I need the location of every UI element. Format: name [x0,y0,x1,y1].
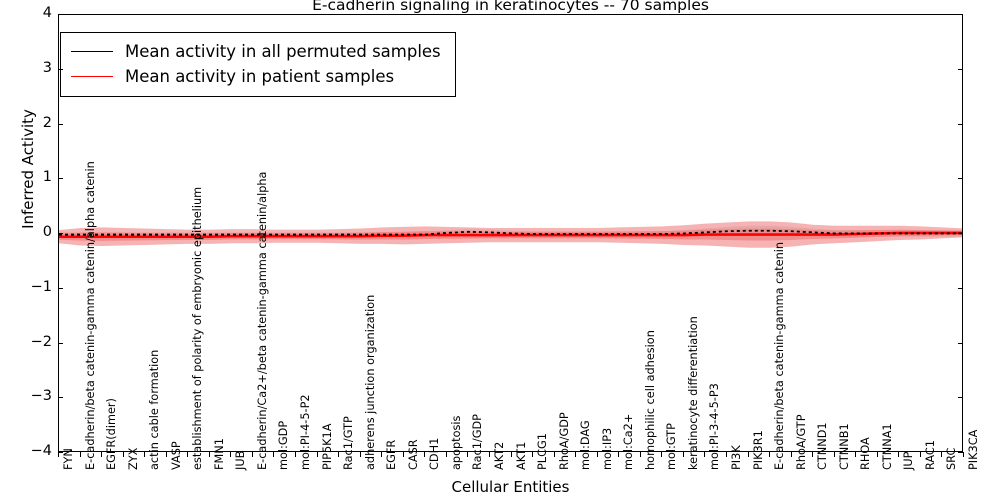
y-axis-tick-label: −1 [8,279,52,295]
x-axis-tick-mark [532,452,533,457]
y-axis-tick-label: 4 [8,5,52,21]
legend-item-permuted: Mean activity in all permuted samples [71,39,441,64]
y-axis-tick-mark [58,397,63,398]
x-axis-tick-mark [166,452,167,457]
y-axis-tick-label: −4 [8,443,52,459]
page-title: E-cadherin signaling in keratinocytes --… [58,0,963,14]
x-axis-tick-mark [855,452,856,457]
x-axis-tick-mark [877,452,878,457]
y-axis-tick-mark [58,124,63,125]
x-axis-label: Cellular Entities [58,478,963,496]
y-axis-tick-mark [958,452,963,453]
x-axis-tick-mark [898,452,899,457]
y-axis-tick-mark [958,124,963,125]
y-axis-tick-mark [958,233,963,234]
x-axis-tick-mark [144,452,145,457]
x-axis-tick-mark [704,452,705,457]
y-axis-tick-mark [58,343,63,344]
x-axis-tick-mark [941,452,942,457]
x-axis-tick-mark [597,452,598,457]
x-axis-tick-mark [511,452,512,457]
y-axis-tick-mark [958,288,963,289]
x-axis-tick-mark [338,452,339,457]
x-axis-tick-label: PIK3CA [967,430,980,470]
x-axis-tick-mark [123,452,124,457]
x-axis-tick-mark [80,452,81,457]
legend-line-permuted-icon [71,51,113,52]
y-axis-tick-mark [958,14,963,15]
y-axis-tick-mark [958,343,963,344]
x-axis-tick-mark [467,452,468,457]
x-axis-tick-mark [295,452,296,457]
x-axis-tick-label: JUP [902,452,915,470]
x-axis-tick-mark [403,452,404,457]
x-axis-tick-mark [209,452,210,457]
y-axis-tick-label: −2 [8,334,52,350]
y-axis-tick-mark [58,452,63,453]
x-axis-tick-mark [273,452,274,457]
x-axis-tick-mark [317,452,318,457]
x-axis-tick-mark [834,452,835,457]
y-axis-tick-mark [58,288,63,289]
x-axis-tick-mark [791,452,792,457]
x-axis-tick-mark [489,452,490,457]
y-axis-tick-mark [58,14,63,15]
legend-line-patient-icon [71,76,113,77]
legend-label-patient: Mean activity in patient samples [125,67,394,86]
y-axis-tick-mark [958,178,963,179]
legend-item-patient: Mean activity in patient samples [71,64,441,89]
x-axis-tick-mark [554,452,555,457]
chart-figure: E-cadherin signaling in keratinocytes --… [0,0,1000,500]
y-axis-tick-label: 0 [8,224,52,240]
y-axis-tick-labels: 43210−1−2−3−4 [0,14,52,452]
x-axis-tick-label: JUB [234,451,247,470]
x-axis-tick-mark [101,452,102,457]
x-axis-tick-mark [640,452,641,457]
y-axis-tick-label: 2 [8,115,52,131]
y-axis-tick-label: 1 [8,169,52,185]
x-axis-tick-mark [748,452,749,457]
x-axis-tick-mark [230,452,231,457]
y-axis-tick-label: −3 [8,388,52,404]
x-axis-tick-mark [575,452,576,457]
x-axis-tick-mark [726,452,727,457]
x-axis-tick-mark [446,452,447,457]
x-axis-tick-mark [424,452,425,457]
x-axis-tick-mark [252,452,253,457]
x-axis-tick-mark [769,452,770,457]
x-axis-tick-mark [812,452,813,457]
y-axis-tick-mark [958,69,963,70]
y-axis-tick-mark [958,397,963,398]
y-axis-tick-mark [58,178,63,179]
x-axis-tick-mark [963,452,964,457]
x-axis-tick-mark [683,452,684,457]
x-axis-tick-mark [618,452,619,457]
x-axis-tick-mark [187,452,188,457]
y-axis-tick-label: 3 [8,60,52,76]
x-axis-tick-mark [661,452,662,457]
x-axis-tick-mark [381,452,382,457]
x-axis-tick-mark [920,452,921,457]
y-axis-tick-mark [58,233,63,234]
y-axis-tick-mark [58,69,63,70]
legend-label-permuted: Mean activity in all permuted samples [125,42,441,61]
chart-legend: Mean activity in all permuted samples Me… [60,32,456,97]
x-axis-tick-mark [360,452,361,457]
